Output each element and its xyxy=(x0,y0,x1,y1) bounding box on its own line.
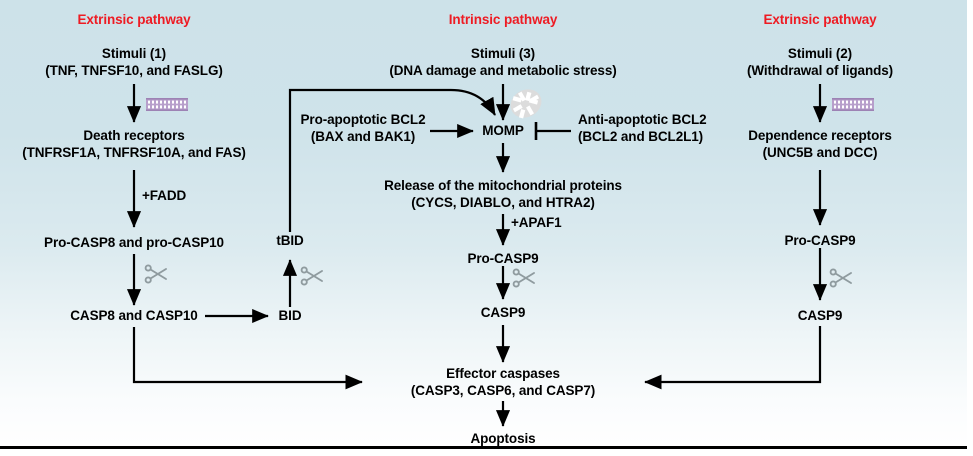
inhibition-antiapoptotic-bcl2-momp xyxy=(535,122,571,140)
effector-caspases-title: Effector caspases xyxy=(446,366,560,382)
right-casp9: CASP9 xyxy=(798,308,843,324)
left-death-receptors-title: Death receptors xyxy=(83,128,184,144)
center-proapoptotic-bcl2-detail: (BAX and BAK1) xyxy=(311,129,415,145)
right-stimuli-title: Stimuli (2) xyxy=(788,46,852,62)
left-adaptor-fadd: +FADD xyxy=(142,188,186,204)
header-intrinsic: Intrinsic pathway xyxy=(449,12,558,28)
center-stimuli-detail: (DNA damage and metabolic stress) xyxy=(389,63,616,79)
right-dependence-receptors-title: Dependence receptors xyxy=(748,128,892,144)
center-proapoptotic-bcl2-title: Pro-apoptotic BCL2 xyxy=(301,112,426,128)
scissors-icon-casp9-center xyxy=(512,268,538,288)
left-death-receptors-detail: (TNFRSF1A, TNFRSF10A, and FAS) xyxy=(22,145,246,161)
tbid-label: tBID xyxy=(276,233,303,249)
apoptosis-label: Apoptosis xyxy=(470,431,535,447)
scissors-icon-casp9-right xyxy=(829,268,855,288)
lipid-bilayer-membrane-icon-right xyxy=(832,98,874,111)
center-adaptor-apaf1: +APAF1 xyxy=(511,215,562,231)
lipid-bilayer-membrane-icon-left xyxy=(146,98,188,111)
center-antiapoptotic-bcl2-title: Anti-apoptotic BCL2 xyxy=(578,112,707,128)
left-pro-caspases: Pro-CASP8 and pro-CASP10 xyxy=(44,235,224,251)
left-stimuli-detail: (TNF, TNFSF10, and FASLG) xyxy=(45,63,223,79)
center-stimuli-title: Stimuli (3) xyxy=(471,46,535,62)
right-dependence-receptors-detail: (UNC5B and DCC) xyxy=(763,145,878,161)
header-extrinsic-left: Extrinsic pathway xyxy=(77,12,190,28)
scissors-icon-casp8 xyxy=(144,264,170,284)
left-stimuli-title: Stimuli (1) xyxy=(102,46,166,62)
figure-canvas: Extrinsic pathway Intrinsic pathway Extr… xyxy=(0,0,973,456)
effector-caspases-detail: (CASP3, CASP6, and CASP7) xyxy=(411,383,595,399)
center-pro-casp9: Pro-CASP9 xyxy=(467,251,538,267)
left-caspases: CASP8 and CASP10 xyxy=(70,308,197,324)
arrow-casp8-to-effector-caspases xyxy=(134,327,362,382)
mitochondrion-icon xyxy=(507,88,545,119)
center-release-title: Release of the mitochondrial proteins xyxy=(384,178,622,194)
momp-label: MOMP xyxy=(482,123,524,139)
center-release-detail: (CYCS, DIABLO, and HTRA2) xyxy=(411,195,595,211)
header-extrinsic-right: Extrinsic pathway xyxy=(763,12,876,28)
right-stimuli-detail: (Withdrawal of ligands) xyxy=(747,63,893,79)
bid-label: BID xyxy=(279,308,302,324)
center-casp9: CASP9 xyxy=(481,305,526,321)
scissors-icon-bid xyxy=(300,266,326,286)
center-antiapoptotic-bcl2-detail: (BCL2 and BCL2L1) xyxy=(578,129,703,145)
arrow-casp9-right-to-effector-caspases xyxy=(645,326,820,382)
right-pro-casp9: Pro-CASP9 xyxy=(784,233,855,249)
